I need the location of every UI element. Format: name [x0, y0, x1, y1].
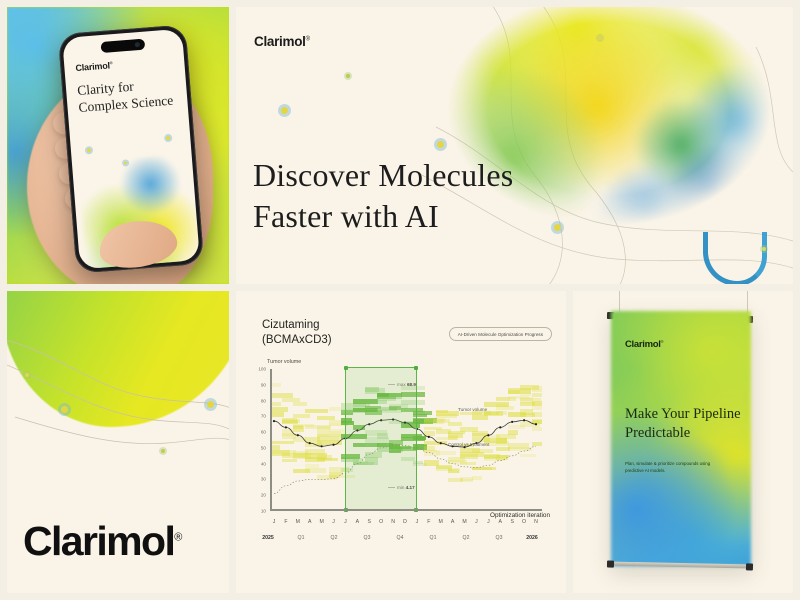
molecule-node: [281, 107, 288, 114]
series-marker[interactable]: [273, 420, 275, 422]
chart-month-tick: M: [439, 519, 443, 525]
panel-phone-mockup: Clarimol® Clarity for Complex Science: [7, 7, 229, 284]
molecule-node: [25, 373, 29, 377]
chart-period-tick: 2025: [262, 535, 274, 541]
chart-title-line1: Cizutaming: [262, 318, 332, 333]
resize-handle-top-left[interactable]: [344, 366, 348, 370]
chart-plot-area: 100908070605040302010 max 68.9 min 4.17 …: [270, 369, 542, 511]
chart-max-annotation: max 68.9: [388, 382, 416, 387]
chart-period-ticks: 2025Q1Q2Q3Q4Q1Q2Q32026: [250, 535, 550, 547]
chart-month-ticks: JFMAMJJASONDJFMAMJJASON: [270, 519, 542, 531]
chart-period-tick: 2026: [526, 535, 538, 541]
chart-month-tick: D: [403, 519, 407, 525]
chart-period-tick: Q2: [331, 535, 338, 541]
panel-chart: Cizutaming (BCMAxCD3) AI-Driven Molecule…: [236, 291, 566, 593]
chart-y-tick: 30: [261, 477, 266, 482]
wordmark-text: Clarimol: [23, 518, 174, 564]
chart-month-tick: M: [462, 519, 466, 525]
chart-title-line2: (BCMAxCD3): [262, 333, 332, 348]
registered-mark: ®: [306, 37, 310, 43]
banner-subtext: Plan, simulate & prioritize compounds us…: [625, 461, 717, 475]
wordmark: Clarimol®: [23, 518, 182, 565]
chart-y-tick: 90: [261, 382, 266, 387]
chart-y-tick: 20: [261, 493, 266, 498]
chart-y-tick: 50: [261, 445, 266, 450]
chart-month-tick: J: [416, 519, 419, 525]
chart-month-tick: S: [368, 519, 371, 525]
series-marker[interactable]: [487, 434, 489, 436]
chart-month-tick: F: [427, 519, 430, 525]
chart-title: Cizutaming (BCMAxCD3): [262, 318, 332, 348]
panel-banner: Clarimol® Make Your Pipeline Predictable…: [573, 291, 793, 593]
series-marker[interactable]: [297, 434, 299, 436]
resize-handle-top-right[interactable]: [414, 366, 418, 370]
banner-logo: Clarimol®: [625, 339, 663, 350]
chart-month-tick: N: [534, 519, 538, 525]
series-marker[interactable]: [309, 442, 311, 444]
molecule-node: [598, 36, 602, 40]
series-marker[interactable]: [321, 445, 323, 447]
series-label-control: Control vs treatment: [448, 442, 489, 447]
chart-month-tick: A: [499, 519, 502, 525]
panel-hero: Clarimol® Discover Molecules Faster with…: [236, 7, 793, 284]
registered-mark: ®: [109, 60, 112, 65]
series-marker[interactable]: [523, 419, 525, 421]
series-marker[interactable]: [535, 423, 537, 425]
chart-x-axis: [270, 509, 542, 511]
registered-mark: ®: [661, 339, 664, 344]
series-marker[interactable]: [332, 444, 334, 446]
chart-period-tick: Q1: [430, 535, 437, 541]
phone-logo-text: Clarimol: [75, 60, 110, 73]
dynamic-island-icon: [101, 39, 146, 53]
series-marker[interactable]: [511, 421, 513, 423]
banner-headline: Make Your Pipeline Predictable: [625, 405, 745, 444]
phone-headline: Clarity for Complex Science: [77, 76, 175, 117]
chart-month-tick: M: [319, 519, 323, 525]
chart-min-annotation: min 4.17: [388, 485, 415, 490]
chart-badge[interactable]: AI-Driven Molecule Optimization Progress: [449, 327, 552, 341]
chart-y-tick: 80: [261, 398, 266, 403]
chart-month-tick: O: [379, 519, 383, 525]
chart-y-tick: 100: [258, 367, 266, 372]
chart-y-tick: 40: [261, 461, 266, 466]
chart-month-tick: A: [356, 519, 359, 525]
chart-period-tick: Q3: [364, 535, 371, 541]
molecule-node: [161, 449, 165, 453]
chart-month-tick: S: [510, 519, 513, 525]
chart-y-tick: 60: [261, 430, 266, 435]
series-marker[interactable]: [499, 426, 501, 428]
molecule-tail-icon: [703, 232, 767, 284]
chart-month-tick: J: [487, 519, 490, 525]
chart-month-tick: N: [391, 519, 395, 525]
chart-period-tick: Q2: [463, 535, 470, 541]
series-label-tumor-volume: Tumor volume: [458, 407, 487, 412]
chart-x-axis-label: Optimization iteration: [490, 512, 550, 519]
chart-month-tick: M: [296, 519, 300, 525]
series-marker[interactable]: [285, 426, 287, 428]
chart-month-tick: O: [522, 519, 526, 525]
chart-month-tick: J: [332, 519, 335, 525]
chart-y-tick: 70: [261, 414, 266, 419]
series-marker[interactable]: [440, 442, 442, 444]
chart-month-tick: A: [308, 519, 311, 525]
molecule-node: [762, 247, 766, 251]
chart-y-tick: 10: [261, 509, 266, 514]
panel-wordmark: Clarimol®: [7, 291, 229, 593]
hero-title: Discover Molecules Faster with AI: [253, 155, 583, 236]
molecule-node: [437, 141, 444, 148]
chart-period-tick: Q1: [298, 535, 305, 541]
chart-month-tick: J: [273, 519, 276, 525]
chart-month-tick: J: [344, 519, 347, 525]
hero-logo-text: Clarimol: [254, 34, 306, 49]
hero-logo: Clarimol®: [254, 34, 310, 49]
chart-y-axis: [270, 369, 272, 511]
molecule-node: [207, 401, 214, 408]
banner-logo-text: Clarimol: [625, 339, 661, 350]
phone-logo: Clarimol®: [75, 60, 113, 73]
series-marker[interactable]: [428, 436, 430, 438]
presentation-board: Clarimol® Clarity for Complex Science: [0, 0, 800, 600]
chart-period-tick: Q4: [397, 535, 404, 541]
chart-month-tick: A: [451, 519, 454, 525]
registered-mark: ®: [174, 531, 182, 543]
chart-month-tick: F: [284, 519, 287, 525]
chart-period-tick: Q3: [496, 535, 503, 541]
chart-month-tick: J: [475, 519, 478, 525]
molecule-node: [346, 74, 350, 78]
molecule-node: [61, 406, 68, 413]
chart-y-axis-label: Tumor volume: [267, 359, 301, 365]
